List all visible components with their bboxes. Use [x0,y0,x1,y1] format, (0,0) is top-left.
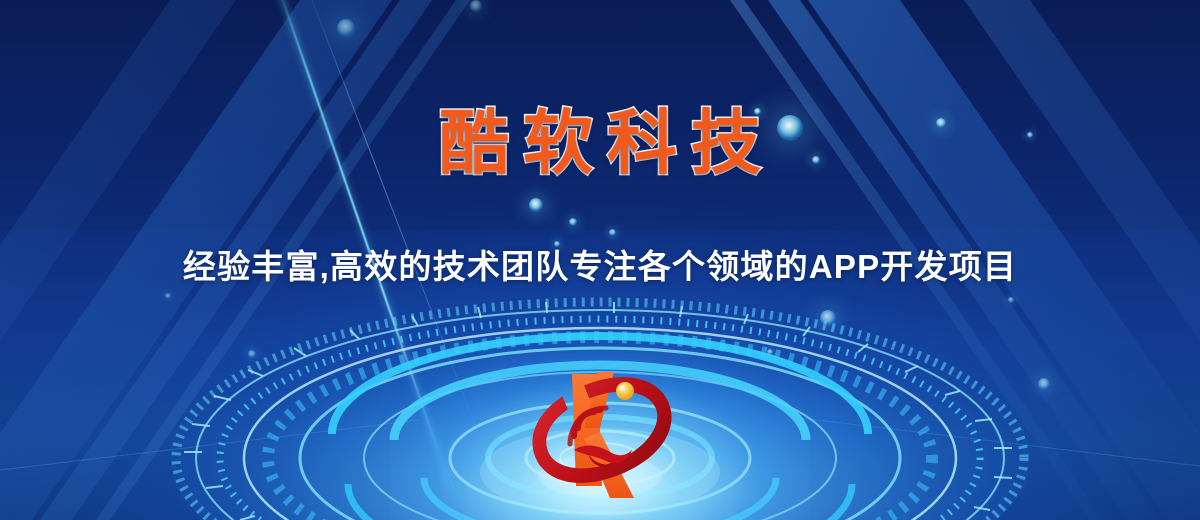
page-title: 酷软科技 [0,103,1200,183]
company-logo [522,358,682,513]
hero-banner: 酷软科技 经验丰富,高效的技术团队专注各个领域的APP开发项目 [0,0,1200,520]
gold-dot-icon [616,382,634,400]
page-subtitle: 经验丰富,高效的技术团队专注各个领域的APP开发项目 [0,246,1200,288]
orbit-swoosh-icon [522,359,682,502]
